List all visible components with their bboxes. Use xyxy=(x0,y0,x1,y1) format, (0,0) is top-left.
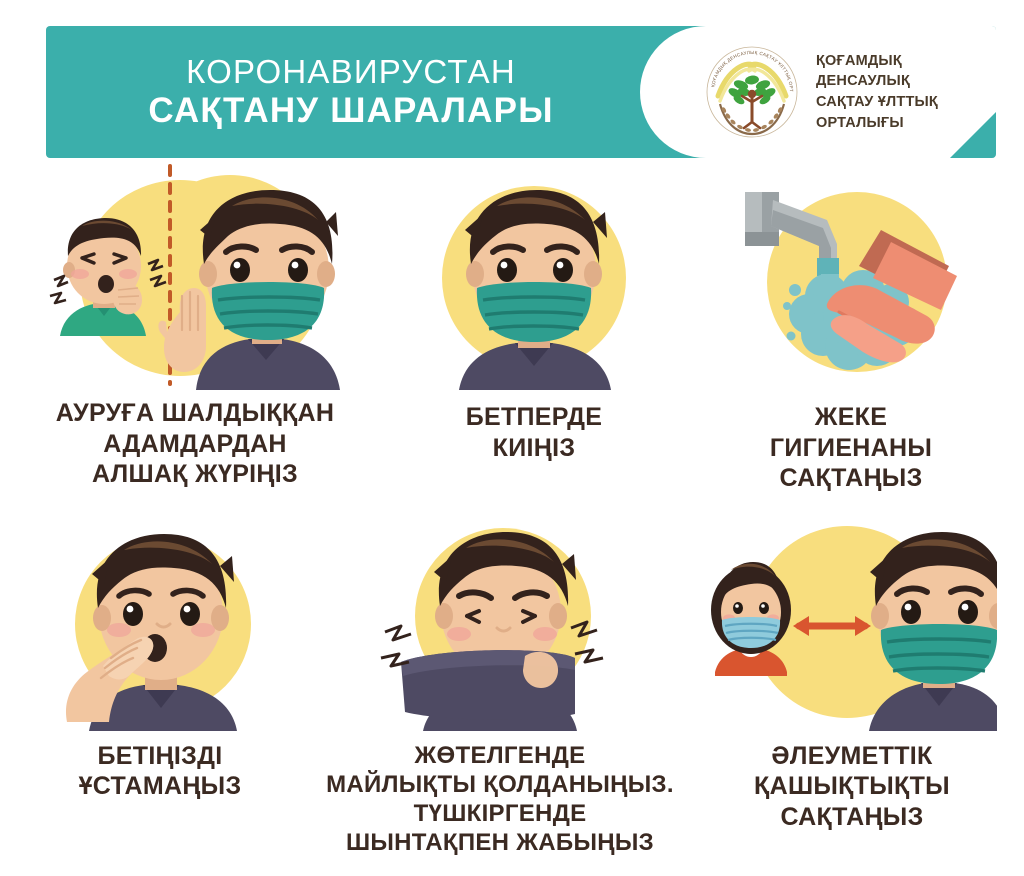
logo-text-line3: ОРТАЛЫҒЫ xyxy=(816,113,996,134)
poster-header: КОРОНАВИРУСТАН САҚТАНУ ШАРАЛАРЫ ҚОҒАМДЫҚ… xyxy=(46,26,996,158)
caption-do-not-touch-face: БЕТІҢІЗДІ ҰСТАМАҢЫЗ xyxy=(10,741,310,802)
advice-panel-social-distance: ӘЛЕУМЕТТІК ҚАШЫҚТЫҚТЫ САҚТАҢЫЗ xyxy=(680,516,1024,858)
advice-panel-keep-distance-from-sick: АУРУҒА ШАЛДЫҚҚАН АДАМДАРДАН АЛШАҚ ЖҮРІҢІ… xyxy=(0,160,390,494)
logo-text-line1: ҚОҒАМДЫҚ ДЕНСАУЛЫҚ xyxy=(816,51,996,92)
public-health-logo-icon: ҚОҒАМДЫҚ ДЕНСАУЛЫҚ САҚТАУ ҰЛТТЫҚ ОРТАЛЫҒ… xyxy=(704,44,800,140)
caption-wear-mask: БЕТПЕРДЕ КИІҢІЗ xyxy=(399,402,669,463)
illustration-keep-distance xyxy=(30,160,360,390)
illustration-social-distance xyxy=(707,516,997,731)
advice-row-2: БЕТІҢІЗДІ ҰСТАМАҢЫЗ xyxy=(0,516,1024,858)
illustration-handwashing xyxy=(731,170,971,390)
header-title-block: КОРОНАВИРУСТАН САҚТАНУ ШАРАЛАРЫ xyxy=(46,26,656,158)
advice-panel-cover-cough: ЖӨТЕЛГЕНДЕ МАЙЛЫҚТЫ ҚОЛДАНЫҢЫЗ. ТҮШКІРГЕ… xyxy=(320,516,680,858)
caption-social-distance: ӘЛЕУМЕТТІК ҚАШЫҚТЫҚТЫ САҚТАҢЫЗ xyxy=(692,741,1012,833)
illustration-wear-mask xyxy=(419,170,649,390)
advice-row-1: АУРУҒА ШАЛДЫҚҚАН АДАМДАРДАН АЛШАҚ ЖҮРІҢІ… xyxy=(0,160,1024,494)
illustration-do-not-touch-face xyxy=(45,516,275,731)
illustration-cover-cough xyxy=(375,516,625,731)
advice-panel-personal-hygiene: ЖЕКЕ ГИГИЕНАНЫ САҚТАҢЫЗ xyxy=(678,160,1024,494)
page-title-line1: КОРОНАВИРУСТАН xyxy=(186,55,516,90)
caption-cover-cough: ЖӨТЕЛГЕНДЕ МАЙЛЫҚТЫ ҚОЛДАНЫҢЫЗ. ТҮШКІРГЕ… xyxy=(290,741,710,858)
caption-keep-distance-from-sick: АУРУҒА ШАЛДЫҚҚАН АДАМДАРДАН АЛШАҚ ЖҮРІҢІ… xyxy=(25,398,365,490)
advice-panel-wear-mask: БЕТПЕРДЕ КИІҢІЗ xyxy=(390,160,678,494)
logo-text-block: ҚОҒАМДЫҚ ДЕНСАУЛЫҚ САҚТАУ ҰЛТТЫҚ ОРТАЛЫҒ… xyxy=(816,51,996,133)
caption-personal-hygiene: ЖЕКЕ ГИГИЕНАНЫ САҚТАҢЫЗ xyxy=(691,402,1011,494)
infographic-poster: КОРОНАВИРУСТАН САҚТАНУ ШАРАЛАРЫ ҚОҒАМДЫҚ… xyxy=(0,0,1024,876)
logo-text-line2: САҚТАУ ҰЛТТЫҚ xyxy=(816,92,996,113)
page-title-line2: САҚТАНУ ШАРАЛАРЫ xyxy=(148,92,553,129)
advice-panel-grid: АУРУҒА ШАЛДЫҚҚАН АДАМДАРДАН АЛШАҚ ЖҮРІҢІ… xyxy=(0,160,1024,858)
logo-panel: ҚОҒАМДЫҚ ДЕНСАУЛЫҚ САҚТАУ ҰЛТТЫҚ ОРТАЛЫҒ… xyxy=(640,26,996,158)
advice-panel-do-not-touch-face: БЕТІҢІЗДІ ҰСТАМАҢЫЗ xyxy=(0,516,320,858)
